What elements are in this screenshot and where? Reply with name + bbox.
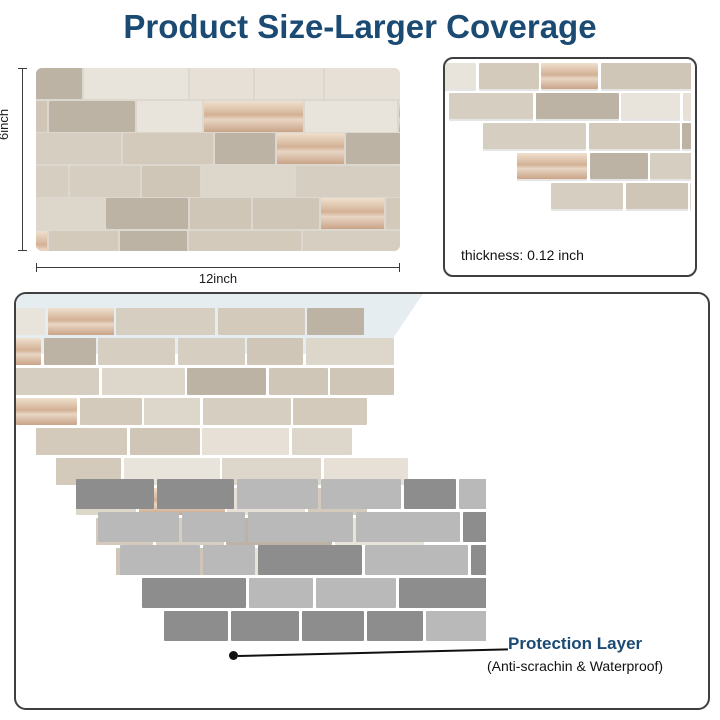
thickness-label: thickness: 0.12 inch bbox=[461, 247, 584, 263]
callout-dot-protection bbox=[229, 651, 238, 660]
height-dimension-line bbox=[22, 68, 23, 251]
thickness-illustration bbox=[445, 59, 691, 224]
layers-panel: Protection Layer (Anti-scrachin & Waterp… bbox=[14, 292, 710, 710]
callout-subtitle-protection: (Anti-scrachin & Waterproof) bbox=[487, 658, 663, 674]
tile-sample-image bbox=[36, 68, 400, 251]
thickness-panel: thickness: 0.12 inch bbox=[443, 57, 697, 277]
layers-illustration bbox=[16, 294, 486, 704]
height-dimension-label: 6inch bbox=[0, 109, 11, 140]
callout-title-protection: Protection Layer bbox=[508, 634, 642, 654]
width-dimension-line bbox=[36, 267, 400, 268]
width-dimension-label: 12inch bbox=[36, 271, 400, 286]
page-title: Product Size-Larger Coverage bbox=[0, 8, 720, 46]
